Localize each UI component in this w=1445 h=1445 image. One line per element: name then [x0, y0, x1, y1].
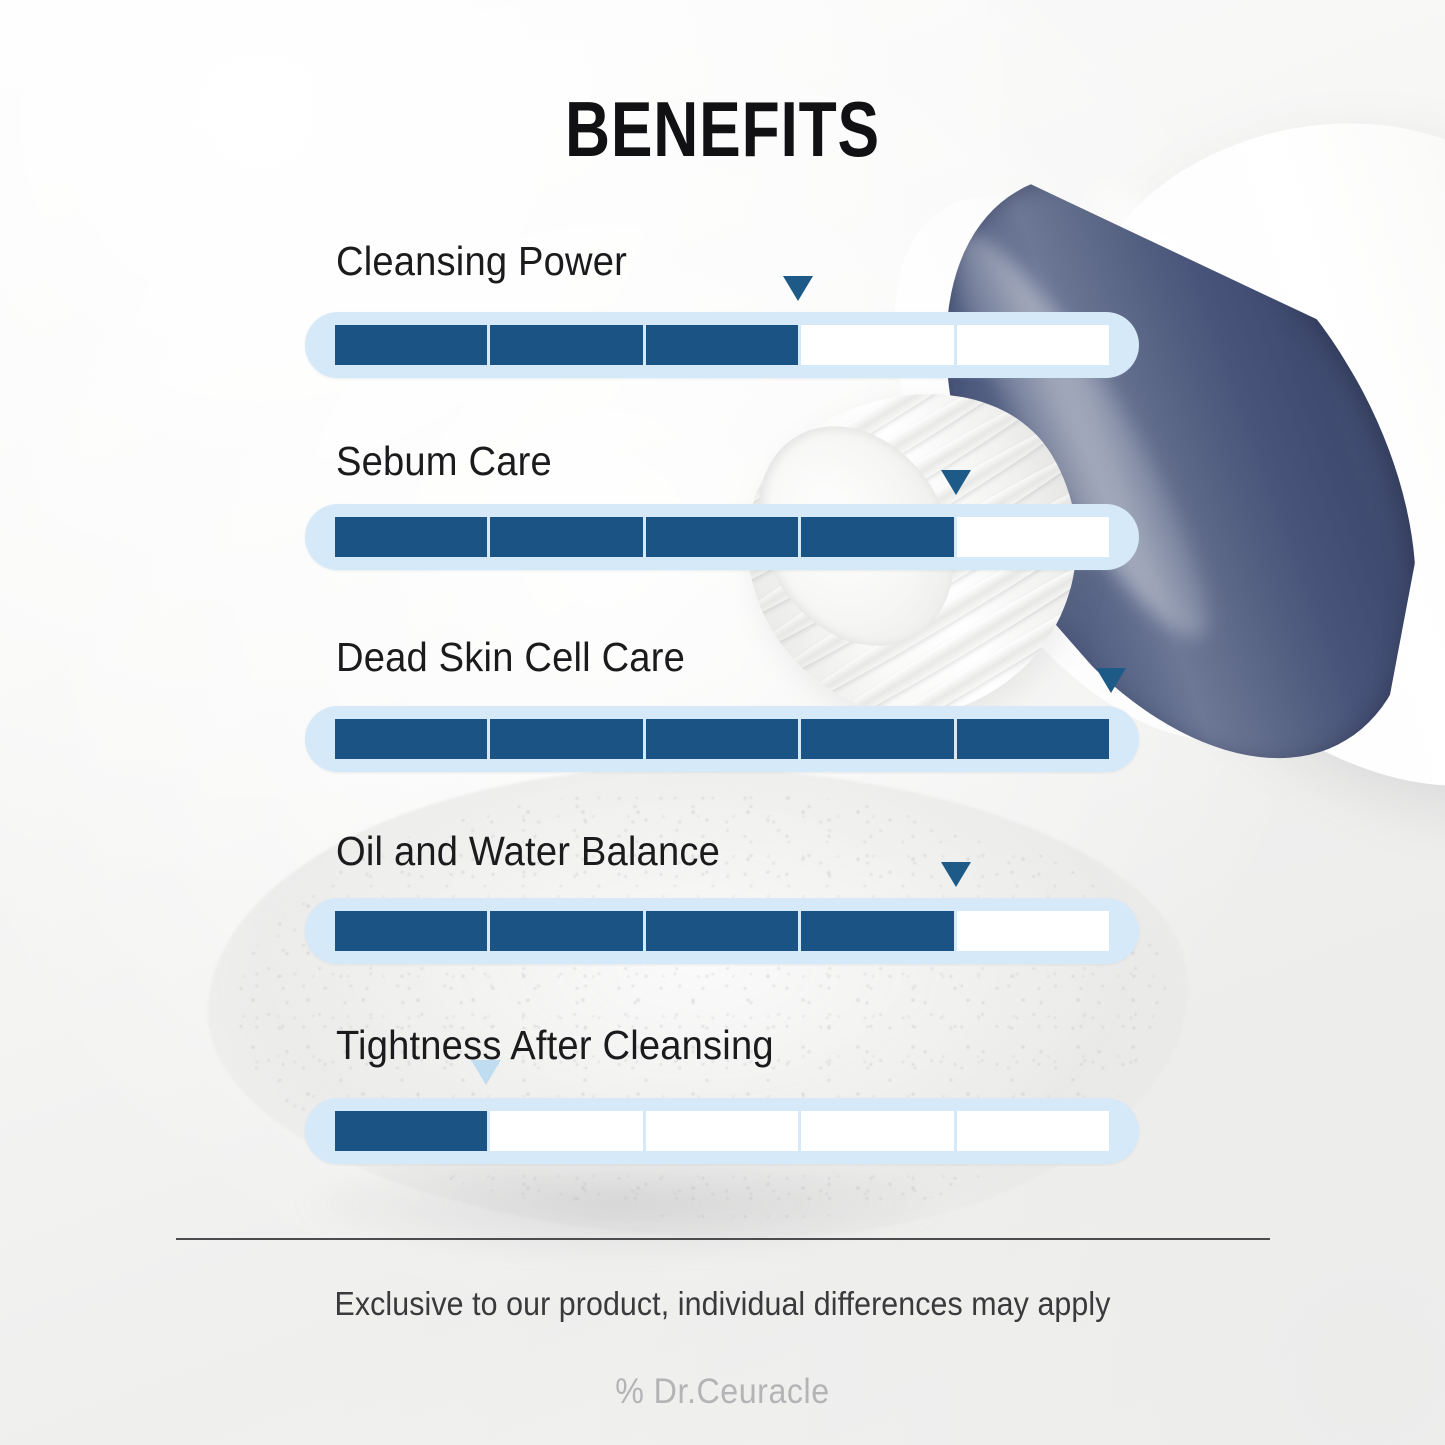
meter-segment-filled — [335, 325, 490, 365]
infographic-content: BENEFITS Cleansing PowerSebum CareDead S… — [0, 0, 1445, 1445]
infographic-page: BENEFITS Cleansing PowerSebum CareDead S… — [0, 0, 1445, 1445]
disclaimer-text: Exclusive to our product, individual dif… — [58, 1285, 1387, 1323]
meter-segment-empty — [490, 1111, 645, 1151]
meter-segment-filled — [335, 1111, 490, 1151]
meter-segment-filled — [646, 517, 801, 557]
brand-logo: %Dr.Ceuracle — [58, 1372, 1387, 1412]
meter-segment-empty — [957, 1111, 1109, 1151]
benefit-label: Oil and Water Balance — [336, 828, 720, 875]
score-marker-triangle-icon — [1096, 668, 1126, 693]
droplet-percent-icon: % — [615, 1372, 644, 1411]
score-marker-triangle-icon — [941, 862, 971, 887]
page-title: BENEFITS — [145, 84, 1301, 175]
brand-name: Dr.Ceuracle — [654, 1372, 830, 1411]
meter-segment-filled — [801, 911, 956, 951]
meter-segment-filled — [801, 517, 956, 557]
benefit-meter-track — [305, 504, 1139, 570]
meter-segment-filled — [490, 719, 645, 759]
meter-segment-empty — [957, 517, 1109, 557]
meter-segment-filled — [490, 517, 645, 557]
meter-segment-filled — [490, 911, 645, 951]
meter-segment-filled — [646, 325, 801, 365]
meter-segment-filled — [335, 517, 490, 557]
meter-segment-filled — [646, 911, 801, 951]
benefit-meter-track — [305, 1098, 1139, 1164]
meter-segment-empty — [801, 325, 956, 365]
benefit-label: Dead Skin Cell Care — [336, 634, 685, 681]
score-marker-triangle-icon — [783, 276, 813, 301]
benefit-label: Cleansing Power — [336, 238, 627, 285]
meter-segment-empty — [957, 325, 1109, 365]
meter-segment-empty — [646, 1111, 801, 1151]
meter-segment-filled — [335, 719, 490, 759]
meter-segment-filled — [490, 325, 645, 365]
benefit-label: Sebum Care — [336, 438, 552, 485]
meter-segment-empty — [801, 1111, 956, 1151]
score-marker-triangle-icon — [471, 1060, 501, 1085]
score-marker-triangle-icon — [941, 470, 971, 495]
meter-segment-empty — [957, 911, 1109, 951]
meter-segment-filled — [646, 719, 801, 759]
footer-divider — [176, 1238, 1270, 1240]
benefit-meter-track — [305, 898, 1139, 964]
benefit-meter-track — [305, 706, 1139, 772]
meter-segment-filled — [801, 719, 956, 759]
benefit-meter-track — [305, 312, 1139, 378]
benefit-label: Tightness After Cleansing — [336, 1022, 774, 1069]
meter-segment-filled — [335, 911, 490, 951]
meter-segment-filled — [957, 719, 1109, 759]
